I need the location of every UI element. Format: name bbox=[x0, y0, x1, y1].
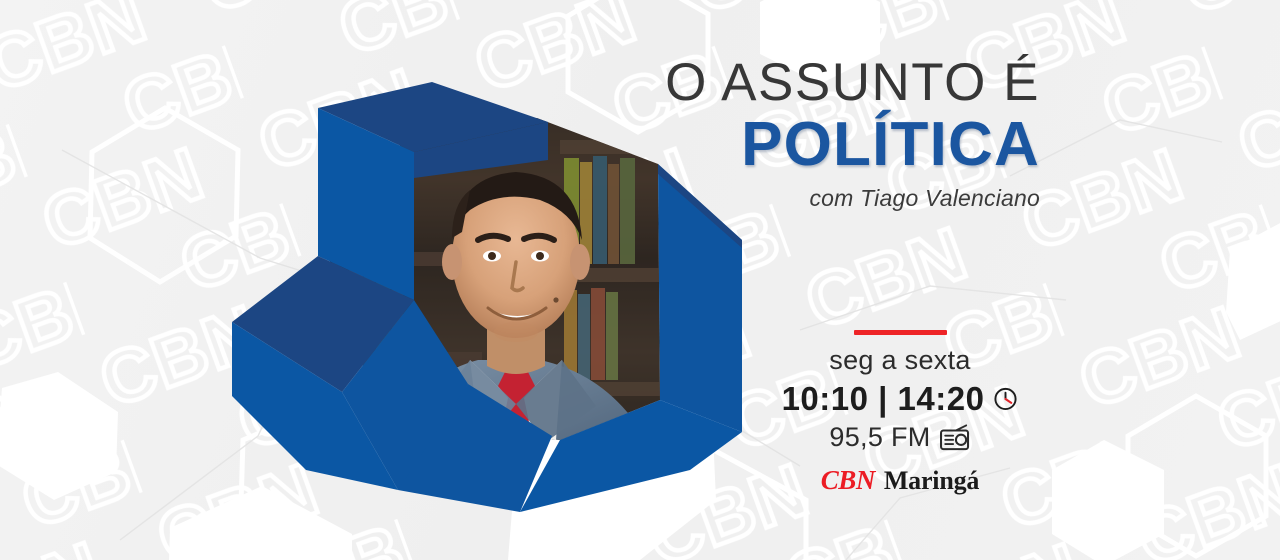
program-title-line-2: POLÍTICA bbox=[420, 112, 1040, 177]
broadcast-days: seg a sexta bbox=[760, 347, 1040, 374]
radio-frequency: 95,5 FM bbox=[829, 424, 930, 451]
logo-brand-text: CBN bbox=[821, 465, 875, 496]
radio-program-banner: CBN CBN bbox=[0, 0, 1280, 560]
clock-icon bbox=[993, 386, 1018, 411]
broadcast-times-row: 10:10 | 14:20 bbox=[760, 382, 1040, 415]
broadcast-times: 10:10 | 14:20 bbox=[782, 382, 985, 415]
station-logo: CBN Maringá bbox=[760, 465, 1040, 496]
title-block: O ASSUNTO É POLÍTICA com Tiago Valencian… bbox=[420, 56, 1040, 212]
radio-icon bbox=[939, 424, 971, 451]
program-title-line-1: O ASSUNTO É bbox=[420, 56, 1040, 110]
program-host-line: com Tiago Valenciano bbox=[420, 185, 1040, 212]
schedule-block: seg a sexta 10:10 | 14:20 95,5 FM CBN M bbox=[760, 330, 1040, 496]
frequency-row: 95,5 FM bbox=[760, 424, 1040, 451]
red-divider-rule bbox=[854, 330, 947, 335]
logo-city-text: Maringá bbox=[884, 466, 979, 496]
